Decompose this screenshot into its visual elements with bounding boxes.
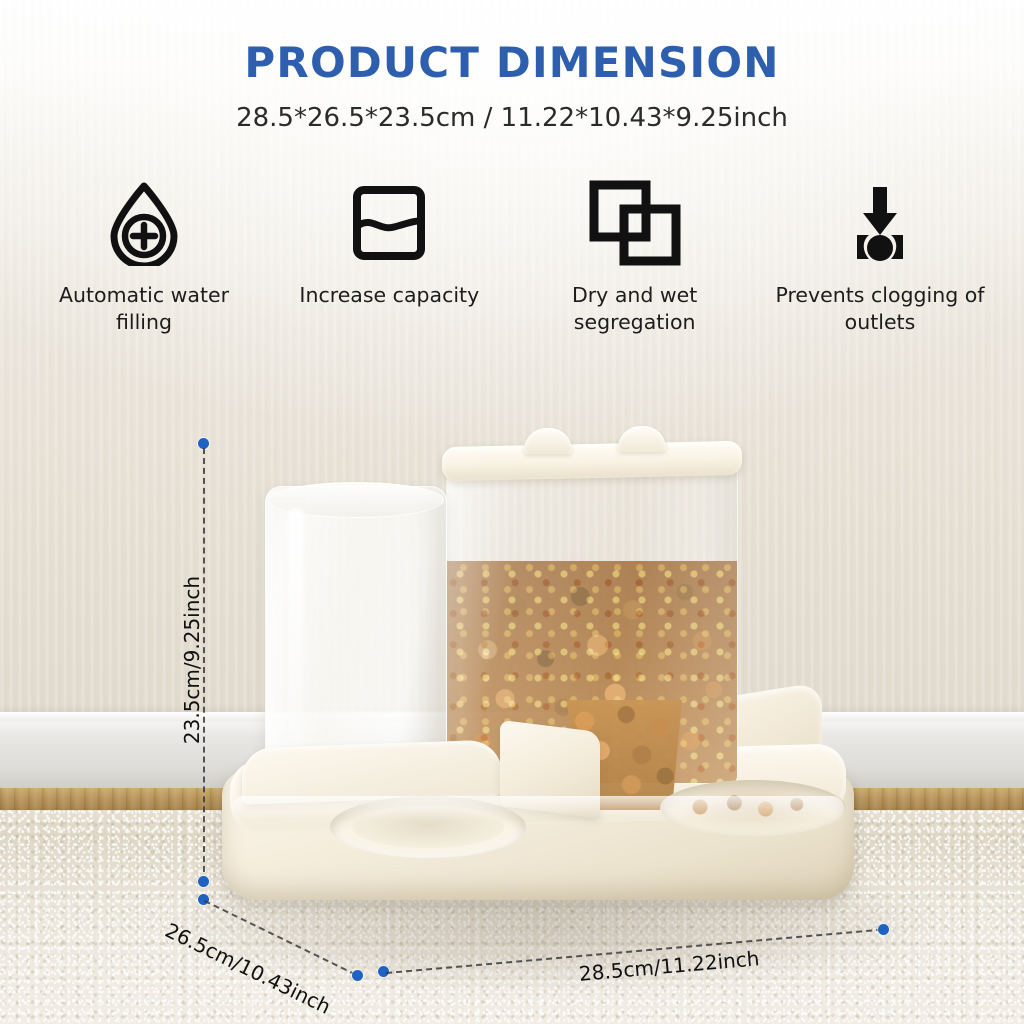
hopper-ear-right xyxy=(618,426,666,452)
pet-water-and-food-dispenser xyxy=(0,0,1024,1024)
water-bowl-divider xyxy=(242,739,502,804)
base-front-highlight xyxy=(232,796,844,820)
product-dimension-infographic: PRODUCT DIMENSION 28.5*26.5*23.5cm / 11.… xyxy=(0,0,1024,1024)
depth-dot-end xyxy=(352,970,363,981)
water-bottle-highlight xyxy=(288,508,304,756)
hopper-lid xyxy=(442,441,742,481)
height-dimension-label: 23.5cm/9.25inch xyxy=(180,576,204,744)
hopper-ear-left xyxy=(524,428,572,454)
height-dot-bottom xyxy=(198,876,209,887)
width-dot-right xyxy=(878,924,889,935)
